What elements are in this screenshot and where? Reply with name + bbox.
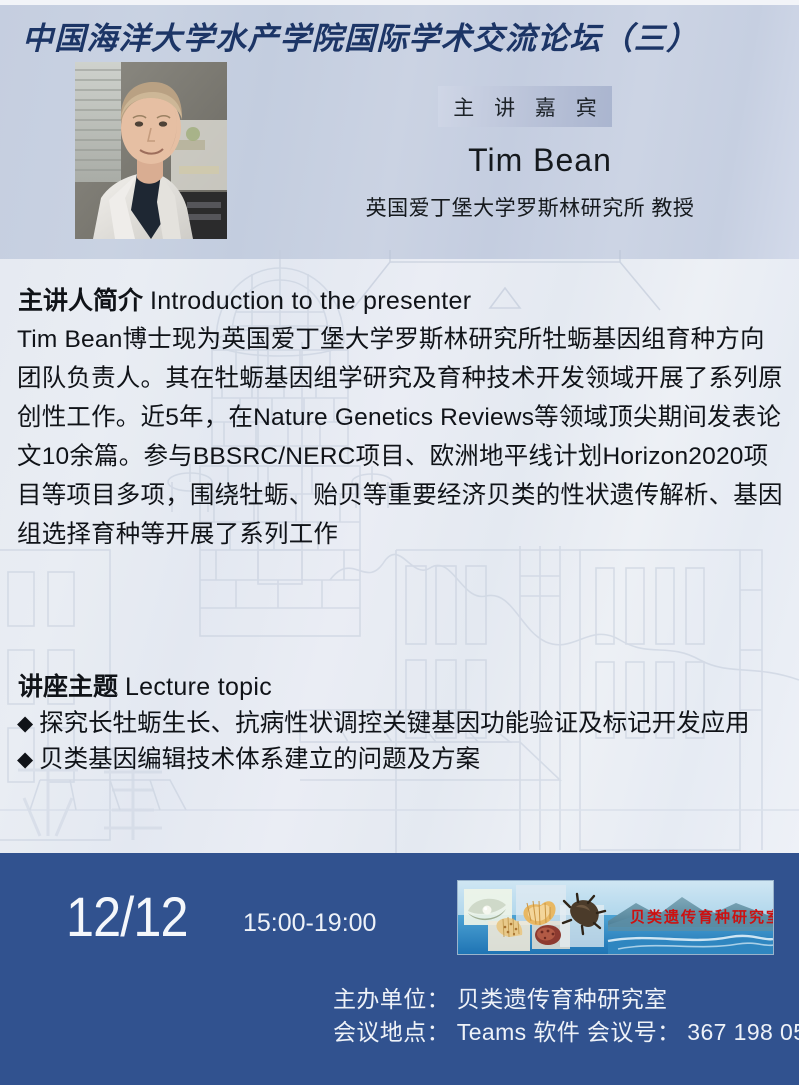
list-item: ◆ 贝类基因编辑技术体系建立的问题及方案 bbox=[17, 742, 792, 778]
event-date: 12/12 bbox=[66, 884, 188, 949]
venue-line: 会议地点： Teams 软件 会议号： 367 198 050 011 bbox=[333, 1013, 799, 1047]
host-line: 主办单位： 贝类遗传育种研究室 bbox=[333, 980, 667, 1014]
poster-root: 中国海洋大学水产学院国际学术交流论坛（三） bbox=[0, 0, 799, 1085]
list-item: ◆ 探究长牡蛎生长、抗病性状调控关键基因功能验证及标记开发应用 bbox=[17, 706, 792, 742]
lecture-heading-en: Lecture topic bbox=[125, 673, 272, 701]
list-item-label: 贝类基因编辑技术体系建立的问题及方案 bbox=[39, 742, 480, 778]
speaker-affiliation: 英国爱丁堡大学罗斯林研究所 教授 bbox=[280, 192, 780, 222]
introduction-heading-en: Introduction to the presenter bbox=[150, 287, 471, 315]
guest-badge-label: 主 讲 嘉 宾 bbox=[446, 92, 604, 122]
lab-logo-text: 贝类遗传育种研究室 bbox=[630, 908, 773, 926]
background-top-highlight bbox=[0, 0, 799, 5]
guest-badge: 主 讲 嘉 宾 bbox=[438, 86, 612, 127]
introduction-heading: 主讲人简介 Introduction to the presenter bbox=[18, 281, 471, 317]
diamond-bullet-icon: ◆ bbox=[17, 742, 33, 778]
diamond-bullet-icon: ◆ bbox=[17, 706, 33, 742]
event-time: 15:00-19:00 bbox=[243, 909, 376, 938]
lecture-heading-cn: 讲座主题 bbox=[18, 673, 118, 701]
lecture-topic-heading: 讲座主题 Lecture topic bbox=[18, 667, 272, 703]
speaker-portrait bbox=[75, 62, 227, 239]
lab-logo-banner: 贝类遗传育种研究室 bbox=[457, 880, 774, 955]
page-title: 中国海洋大学水产学院国际学术交流论坛（三） bbox=[22, 13, 698, 58]
introduction-heading-cn: 主讲人简介 bbox=[18, 287, 143, 315]
speaker-name: Tim Bean bbox=[400, 142, 680, 179]
lecture-topic-list: ◆ 探究长牡蛎生长、抗病性状调控关键基因功能验证及标记开发应用 ◆ 贝类基因编辑… bbox=[17, 706, 792, 778]
introduction-body: Tim Bean博士现为英国爱丁堡大学罗斯林研究所牡蛎基因组育种方向团队负责人。… bbox=[17, 320, 787, 554]
list-item-label: 探究长牡蛎生长、抗病性状调控关键基因功能验证及标记开发应用 bbox=[39, 706, 750, 742]
